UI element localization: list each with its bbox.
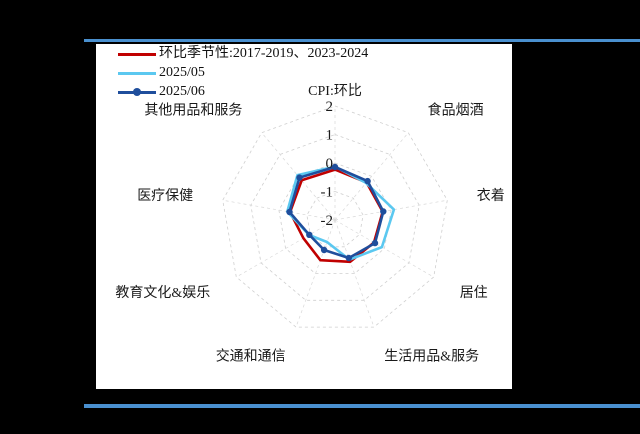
radar-data-point xyxy=(372,240,378,246)
radar-tick-labels: 210-1-2 xyxy=(321,99,334,229)
chart-title: CPI:环比 xyxy=(308,83,362,99)
radar-chart-svg: 210-1-2 食品烟酒衣着居住生活用品&服务交通和通信教育文化&娱乐医疗保健其… xyxy=(96,44,512,389)
top-divider-rule-cap xyxy=(629,39,640,42)
radar-data-point xyxy=(296,174,302,180)
radar-axis-label: 交通和通信 xyxy=(216,347,286,364)
slide-canvas: 环比季节性:2017-2019、2023-2024 2025/05 2025/0… xyxy=(0,0,640,434)
radial-tick-label: 2 xyxy=(326,99,334,115)
radar-data-point xyxy=(306,232,312,238)
top-divider-rule xyxy=(84,39,629,42)
radar-axis-label: 其他用品和服务 xyxy=(144,103,242,119)
radar-axis-label: 食品烟酒 xyxy=(428,102,484,119)
radar-spoke xyxy=(335,220,434,277)
radar-data-point xyxy=(321,247,327,253)
radar-axis-label: 衣着 xyxy=(477,188,505,204)
radar-axis-label: 医疗保健 xyxy=(137,188,193,204)
radar-data-point xyxy=(380,208,386,214)
bottom-divider-rule-cap xyxy=(629,404,640,408)
radar-data-point xyxy=(286,209,292,215)
radar-chart: 210-1-2 食品烟酒衣着居住生活用品&服务交通和通信教育文化&娱乐医疗保健其… xyxy=(96,44,512,389)
radial-tick-label: -1 xyxy=(321,185,334,201)
radar-spoke xyxy=(335,133,408,220)
radial-tick-label: -2 xyxy=(321,213,334,229)
radar-axis-label: 教育文化&娱乐 xyxy=(115,285,210,301)
radar-data-point xyxy=(364,178,370,184)
bottom-divider-rule xyxy=(84,404,629,408)
radial-tick-label: 1 xyxy=(326,128,334,144)
radar-data-point xyxy=(346,255,352,261)
radial-tick-label: 0 xyxy=(326,156,334,172)
radar-axis-label: 居住 xyxy=(460,285,488,301)
radar-spoke xyxy=(223,200,335,220)
radar-axis-label: 生活用品&服务 xyxy=(384,348,479,364)
